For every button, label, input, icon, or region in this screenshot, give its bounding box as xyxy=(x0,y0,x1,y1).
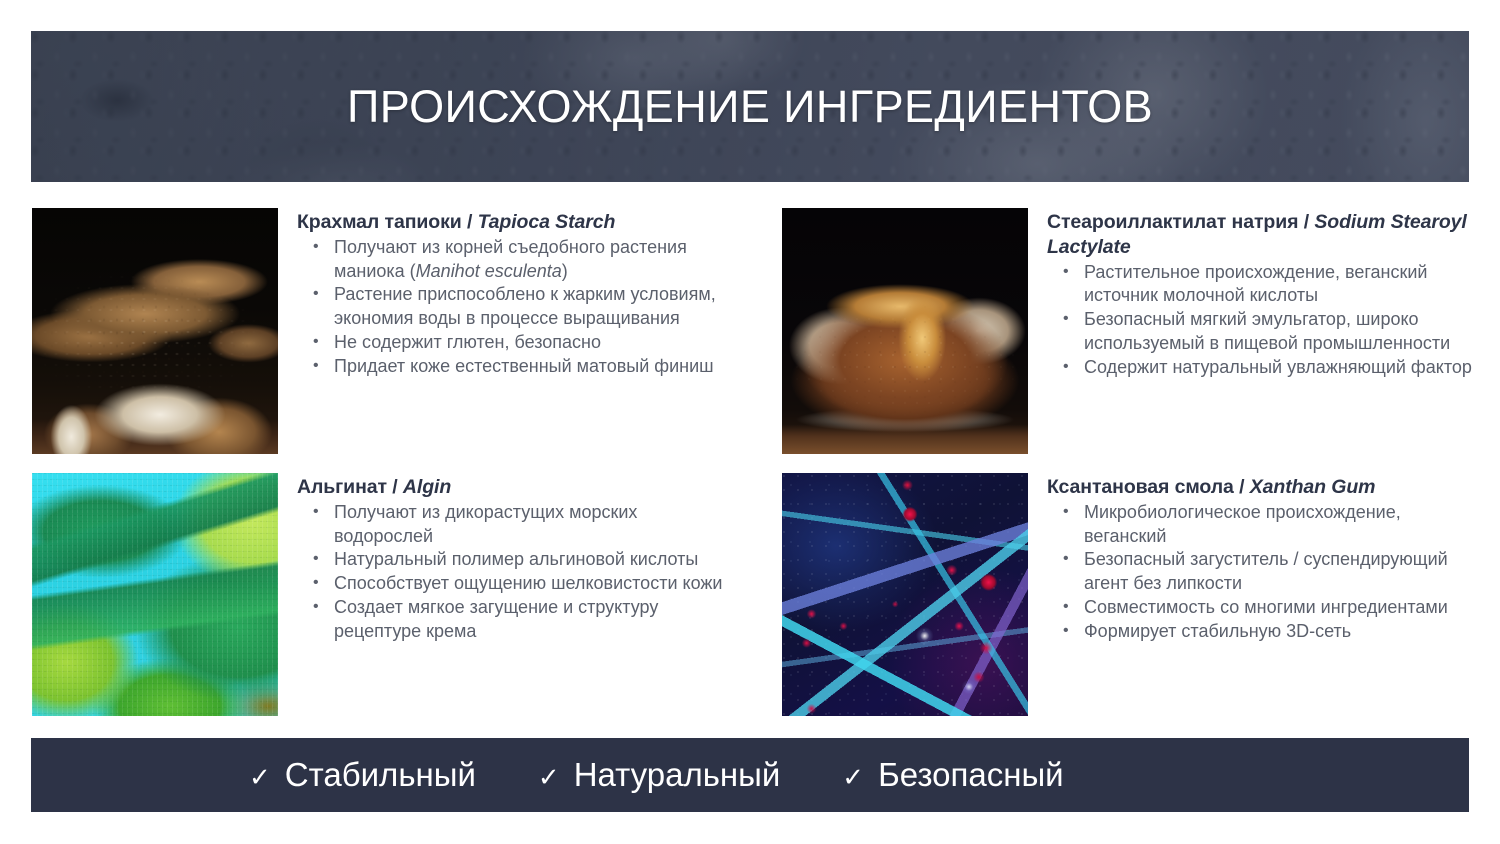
bullet-latin-name: Manihot esculenta xyxy=(416,261,562,281)
card-body: Альгинат / Algin Получают из дикорастущи… xyxy=(297,473,732,644)
bullet-text: Придает коже естественный матовый финиш xyxy=(334,356,714,376)
card-thumbnail xyxy=(32,473,278,716)
list-item: Безопасный мягкий эмульгатор, широко исп… xyxy=(1047,308,1482,356)
check-mark-icon: ✓ xyxy=(842,764,864,790)
list-item: Не содержит глютен, безопасно xyxy=(297,331,732,355)
card-title: Альгинат / Algin xyxy=(297,475,732,500)
bullet-text-tail: ) xyxy=(562,261,568,281)
card-bullet-list: Получают из корней съедобного растения м… xyxy=(297,236,732,379)
list-item: Содержит натуральный увлажняющий фактор xyxy=(1047,356,1482,380)
list-item: Способствует ощущению шелковистости кожи xyxy=(297,572,732,596)
card-title: Ксантановая смола / Xanthan Gum xyxy=(1047,475,1482,500)
bullet-text: Растение приспособлено к жарким условиям… xyxy=(334,284,716,328)
bullet-text: Совместимость со многими ингредиентами xyxy=(1084,597,1448,617)
ingredient-card-tapioca-starch: Крахмал тапиоки / Tapioca Starch Получаю… xyxy=(32,208,732,379)
bullet-text: Создает мягкое загущение и структуру рец… xyxy=(334,597,658,641)
list-item: Натуральный полимер альгиновой кислоты xyxy=(297,548,732,572)
card-body: Крахмал тапиоки / Tapioca Starch Получаю… xyxy=(297,208,732,379)
list-item: Микробиологическое происхождение, веганс… xyxy=(1047,501,1482,549)
card-title-ru: Ксантановая смола / xyxy=(1047,476,1250,498)
card-title-ru: Крахмал тапиоки / xyxy=(297,211,478,233)
list-item: Получают из корней съедобного растения м… xyxy=(297,236,732,284)
card-title-ru: Стеароиллактилат натрия / xyxy=(1047,211,1314,233)
ingredient-card-algin: Альгинат / Algin Получают из дикорастущи… xyxy=(32,473,732,644)
list-item: Растение приспособлено к жарким условиям… xyxy=(297,283,732,331)
card-title-ru: Альгинат / xyxy=(297,476,403,498)
benefit-label: Стабильный xyxy=(285,756,476,794)
bullet-text: Получают из дикорастущих морских водорос… xyxy=(334,502,637,546)
bullet-text: Натуральный полимер альгиновой кислоты xyxy=(334,549,698,569)
card-title: Стеароиллактилат натрия / Sodium Stearoy… xyxy=(1047,210,1482,260)
list-item: Получают из дикорастущих морских водорос… xyxy=(297,501,732,549)
card-thumbnail xyxy=(32,208,278,454)
card-title: Крахмал тапиоки / Tapioca Starch xyxy=(297,210,732,235)
seaweed-algae-image xyxy=(32,473,278,716)
benefit-item-natural: ✓ Натуральный xyxy=(538,756,780,794)
benefit-item-stable: ✓ Стабильный xyxy=(249,756,476,794)
cassava-roots-image xyxy=(32,208,278,454)
card-bullet-list: Получают из дикорастущих морских водорос… xyxy=(297,501,732,644)
bullet-text: Безопасный мягкий эмульгатор, широко исп… xyxy=(1084,309,1450,353)
bullet-text: Формирует стабильную 3D-сеть xyxy=(1084,621,1351,641)
benefits-list: ✓ Стабильный ✓ Натуральный ✓ Безопасный xyxy=(249,756,1064,794)
benefit-item-safe: ✓ Безопасный xyxy=(842,756,1063,794)
card-bullet-list: Растительное происхождение, веганский ис… xyxy=(1047,261,1482,380)
check-mark-icon: ✓ xyxy=(249,764,271,790)
card-title-en: Algin xyxy=(403,476,451,498)
card-thumbnail xyxy=(782,208,1028,454)
benefit-label: Безопасный xyxy=(878,756,1064,794)
bullet-text: Безопасный загуститель / суспендирующий … xyxy=(1084,549,1448,593)
page-title: ПРОИСХОЖДЕНИЕ ИНГРЕДИЕНТОВ xyxy=(31,81,1469,133)
bullet-text: Не содержит глютен, безопасно xyxy=(334,332,601,352)
card-title-en: Xanthan Gum xyxy=(1250,476,1376,498)
list-item: Придает коже естественный матовый финиш xyxy=(297,355,732,379)
bullet-text: Способствует ощущению шелковистости кожи xyxy=(334,573,722,593)
ingredient-card-xanthan-gum: Ксантановая смола / Xanthan Gum Микробио… xyxy=(782,473,1482,644)
bullet-text: Микробиологическое происхождение, веганс… xyxy=(1084,502,1401,546)
benefits-footer-bar: ✓ Стабильный ✓ Натуральный ✓ Безопасный xyxy=(31,738,1469,812)
card-title-en: Tapioca Starch xyxy=(478,211,616,233)
bullet-text: Растительное происхождение, веганский ис… xyxy=(1084,262,1428,306)
card-body: Стеароиллактилат натрия / Sodium Stearoy… xyxy=(1047,208,1482,380)
header-banner: ПРОИСХОЖДЕНИЕ ИНГРЕДИЕНТОВ xyxy=(31,31,1469,182)
card-body: Ксантановая смола / Xanthan Gum Микробио… xyxy=(1047,473,1482,644)
ingredient-card-sodium-stearoyl-lactylate: Стеароиллактилат натрия / Sodium Stearoy… xyxy=(782,208,1482,380)
list-item: Растительное происхождение, веганский ис… xyxy=(1047,261,1482,309)
card-thumbnail xyxy=(782,473,1028,716)
ingredient-cards-grid: Крахмал тапиоки / Tapioca Starch Получаю… xyxy=(31,205,1469,725)
xanthan-gum-network-image xyxy=(782,473,1028,716)
list-item: Формирует стабильную 3D-сеть xyxy=(1047,620,1482,644)
check-mark-icon: ✓ xyxy=(538,764,560,790)
bullet-text: Содержит натуральный увлажняющий фактор xyxy=(1084,357,1472,377)
benefit-label: Натуральный xyxy=(574,756,781,794)
card-bullet-list: Микробиологическое происхождение, веганс… xyxy=(1047,501,1482,644)
list-item: Совместимость со многими ингредиентами xyxy=(1047,596,1482,620)
list-item: Безопасный загуститель / суспендирующий … xyxy=(1047,548,1482,596)
list-item: Создает мягкое загущение и структуру рец… xyxy=(297,596,732,644)
sourdough-bread-image xyxy=(782,208,1028,454)
